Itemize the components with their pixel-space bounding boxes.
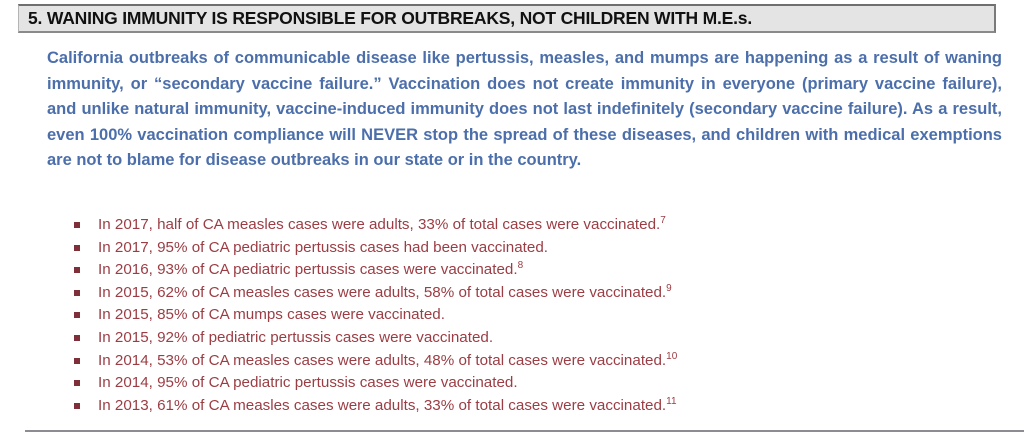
list-item-label: In 2015, 62% of CA measles cases were ad… — [98, 282, 672, 304]
list-item: In 2015, 85% of CA mumps cases were vacc… — [74, 304, 1004, 327]
square-bullet-icon — [74, 290, 80, 296]
footnote-marker: 7 — [660, 215, 666, 226]
list-item-label: In 2014, 53% of CA measles cases were ad… — [98, 350, 677, 372]
section-heading-title: 5. WANING IMMUNITY IS RESPONSIBLE FOR OU… — [19, 8, 752, 29]
footnote-marker: 9 — [666, 283, 672, 294]
square-bullet-icon — [74, 380, 80, 386]
list-item: In 2016, 93% of CA pediatric pertussis c… — [74, 259, 1004, 282]
footer-divider — [25, 430, 1024, 432]
section-heading-bar: 5. WANING IMMUNITY IS RESPONSIBLE FOR OU… — [18, 4, 996, 33]
list-item: In 2017, half of CA measles cases were a… — [74, 214, 1004, 237]
list-item-label: In 2017, 95% of CA pediatric pertussis c… — [98, 237, 548, 259]
square-bullet-icon — [74, 267, 80, 273]
list-item: In 2014, 53% of CA measles cases were ad… — [74, 350, 1004, 373]
square-bullet-icon — [74, 403, 80, 409]
document-page: 5. WANING IMMUNITY IS RESPONSIBLE FOR OU… — [0, 0, 1024, 444]
intro-paragraph-block: California outbreaks of communicable dis… — [47, 46, 1002, 174]
square-bullet-icon — [74, 335, 80, 341]
square-bullet-icon — [74, 222, 80, 228]
footnote-marker: 10 — [666, 351, 677, 362]
list-item-label: In 2014, 95% of CA pediatric pertussis c… — [98, 372, 518, 394]
statistics-bullet-list: In 2017, half of CA measles cases were a… — [74, 214, 1004, 417]
list-item-label: In 2015, 85% of CA mumps cases were vacc… — [98, 304, 445, 326]
footnote-marker: 8 — [518, 260, 524, 271]
square-bullet-icon — [74, 358, 80, 364]
list-item-label: In 2015, 92% of pediatric pertussis case… — [98, 327, 493, 349]
square-bullet-icon — [74, 312, 80, 318]
list-item: In 2015, 92% of pediatric pertussis case… — [74, 327, 1004, 350]
list-item: In 2013, 61% of CA measles cases were ad… — [74, 395, 1004, 418]
list-item-label: In 2017, half of CA measles cases were a… — [98, 214, 666, 236]
intro-paragraph-text: California outbreaks of communicable dis… — [47, 46, 1002, 174]
square-bullet-icon — [74, 245, 80, 251]
footnote-marker: 11 — [666, 396, 676, 407]
list-item-label: In 2016, 93% of CA pediatric pertussis c… — [98, 259, 523, 281]
list-item: In 2017, 95% of CA pediatric pertussis c… — [74, 237, 1004, 260]
list-item-label: In 2013, 61% of CA measles cases were ad… — [98, 395, 677, 417]
list-item: In 2015, 62% of CA measles cases were ad… — [74, 282, 1004, 305]
list-item: In 2014, 95% of CA pediatric pertussis c… — [74, 372, 1004, 395]
